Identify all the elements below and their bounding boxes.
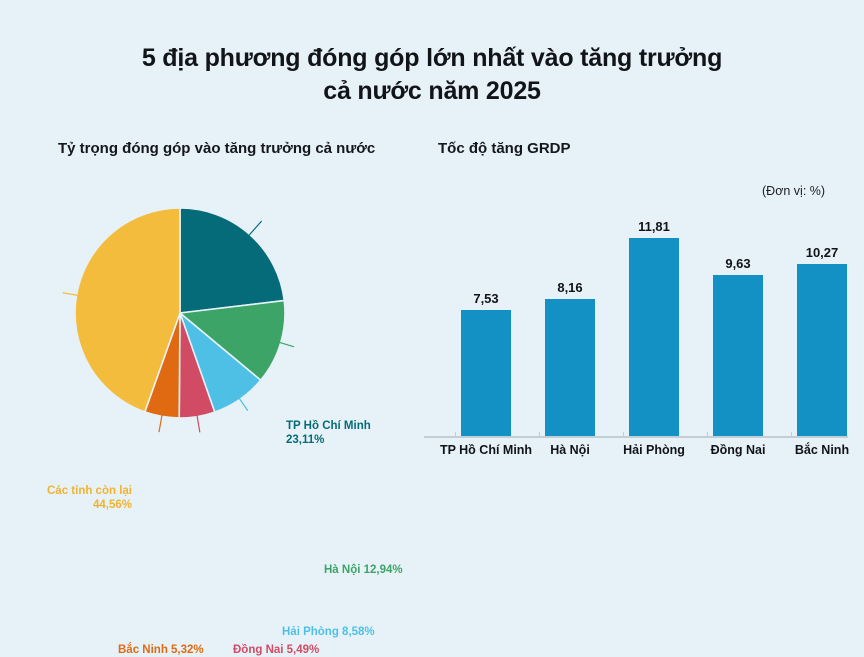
- axis-tick: [707, 432, 708, 438]
- pie-label-hai-phong: Hải Phòng 8,58%: [282, 625, 375, 639]
- pie-leader-line: [197, 415, 200, 433]
- bar-value-label: 10,27: [785, 245, 859, 260]
- pie-slice: [180, 208, 284, 313]
- page-title: 5 địa phương đóng góp lớn nhất vào tăng …: [0, 42, 864, 108]
- pie-chart: TP Hồ Chí Minh 23,11% Các tỉnh còn lại 4…: [0, 185, 430, 505]
- bar-chart-heading: Tốc độ tăng GRDP: [438, 140, 571, 157]
- pie-label-tp-ho-chi-minh-value: 23,11%: [286, 433, 371, 447]
- infographic-root: 5 địa phương đóng góp lớn nhất vào tăng …: [0, 0, 864, 531]
- pie-label-ha-noi: Hà Nội 12,94%: [324, 563, 403, 577]
- axis-tick: [455, 432, 456, 438]
- page-title-line-2: cả nước năm 2025: [0, 75, 864, 108]
- bar-category-label: Bắc Ninh: [767, 443, 864, 457]
- bar[interactable]: [629, 238, 679, 436]
- bar[interactable]: [713, 275, 763, 436]
- bar[interactable]: [461, 310, 511, 436]
- bar-group: 10,27: [785, 196, 864, 436]
- pie-leader-line: [159, 414, 162, 432]
- pie-chart-heading: Tỷ trọng đóng góp vào tăng trưởng cả nướ…: [58, 140, 375, 157]
- bar-value-label: 8,16: [533, 280, 607, 295]
- bar-group: 9,63: [701, 196, 785, 436]
- bar-group: 11,81: [617, 196, 701, 436]
- bar-chart: 7,538,1611,819,6310,27 TP Hồ Chí MinhHà …: [424, 196, 864, 496]
- pie-label-cac-tinh-con-lai-value: 44,56%: [22, 498, 132, 512]
- bar-plot-area: 7,538,1611,819,6310,27: [424, 196, 864, 436]
- pie-label-tp-ho-chi-minh-name: TP Hồ Chí Minh: [286, 419, 371, 433]
- pie-label-tp-ho-chi-minh: TP Hồ Chí Minh 23,11%: [286, 419, 371, 447]
- pie-slices: [75, 208, 285, 418]
- pie-label-bac-ninh: Bắc Ninh 5,32%: [118, 643, 204, 657]
- axis-tick: [791, 432, 792, 438]
- pie-label-dong-nai: Đồng Nai 5,49%: [233, 643, 319, 657]
- bar[interactable]: [545, 299, 595, 436]
- axis-tick: [623, 432, 624, 438]
- page-title-line-1: 5 địa phương đóng góp lớn nhất vào tăng …: [0, 42, 864, 75]
- bar-group: 7,53: [449, 196, 533, 436]
- bar-value-label: 7,53: [449, 291, 523, 306]
- pie-label-cac-tinh-con-lai-name: Các tỉnh còn lại: [22, 484, 132, 498]
- pie-label-cac-tinh-con-lai: Các tỉnh còn lại 44,56%: [22, 484, 132, 512]
- pie-leader-line: [279, 342, 294, 347]
- bar[interactable]: [797, 264, 847, 436]
- bar-chart-x-axis: [424, 436, 848, 438]
- pie-leader-line: [248, 221, 261, 236]
- pie-chart-svg: [0, 185, 430, 505]
- pie-leader-line: [239, 398, 248, 411]
- bar-value-label: 9,63: [701, 256, 775, 271]
- axis-tick: [539, 432, 540, 438]
- bar-group: 8,16: [533, 196, 617, 436]
- bar-value-label: 11,81: [617, 219, 691, 234]
